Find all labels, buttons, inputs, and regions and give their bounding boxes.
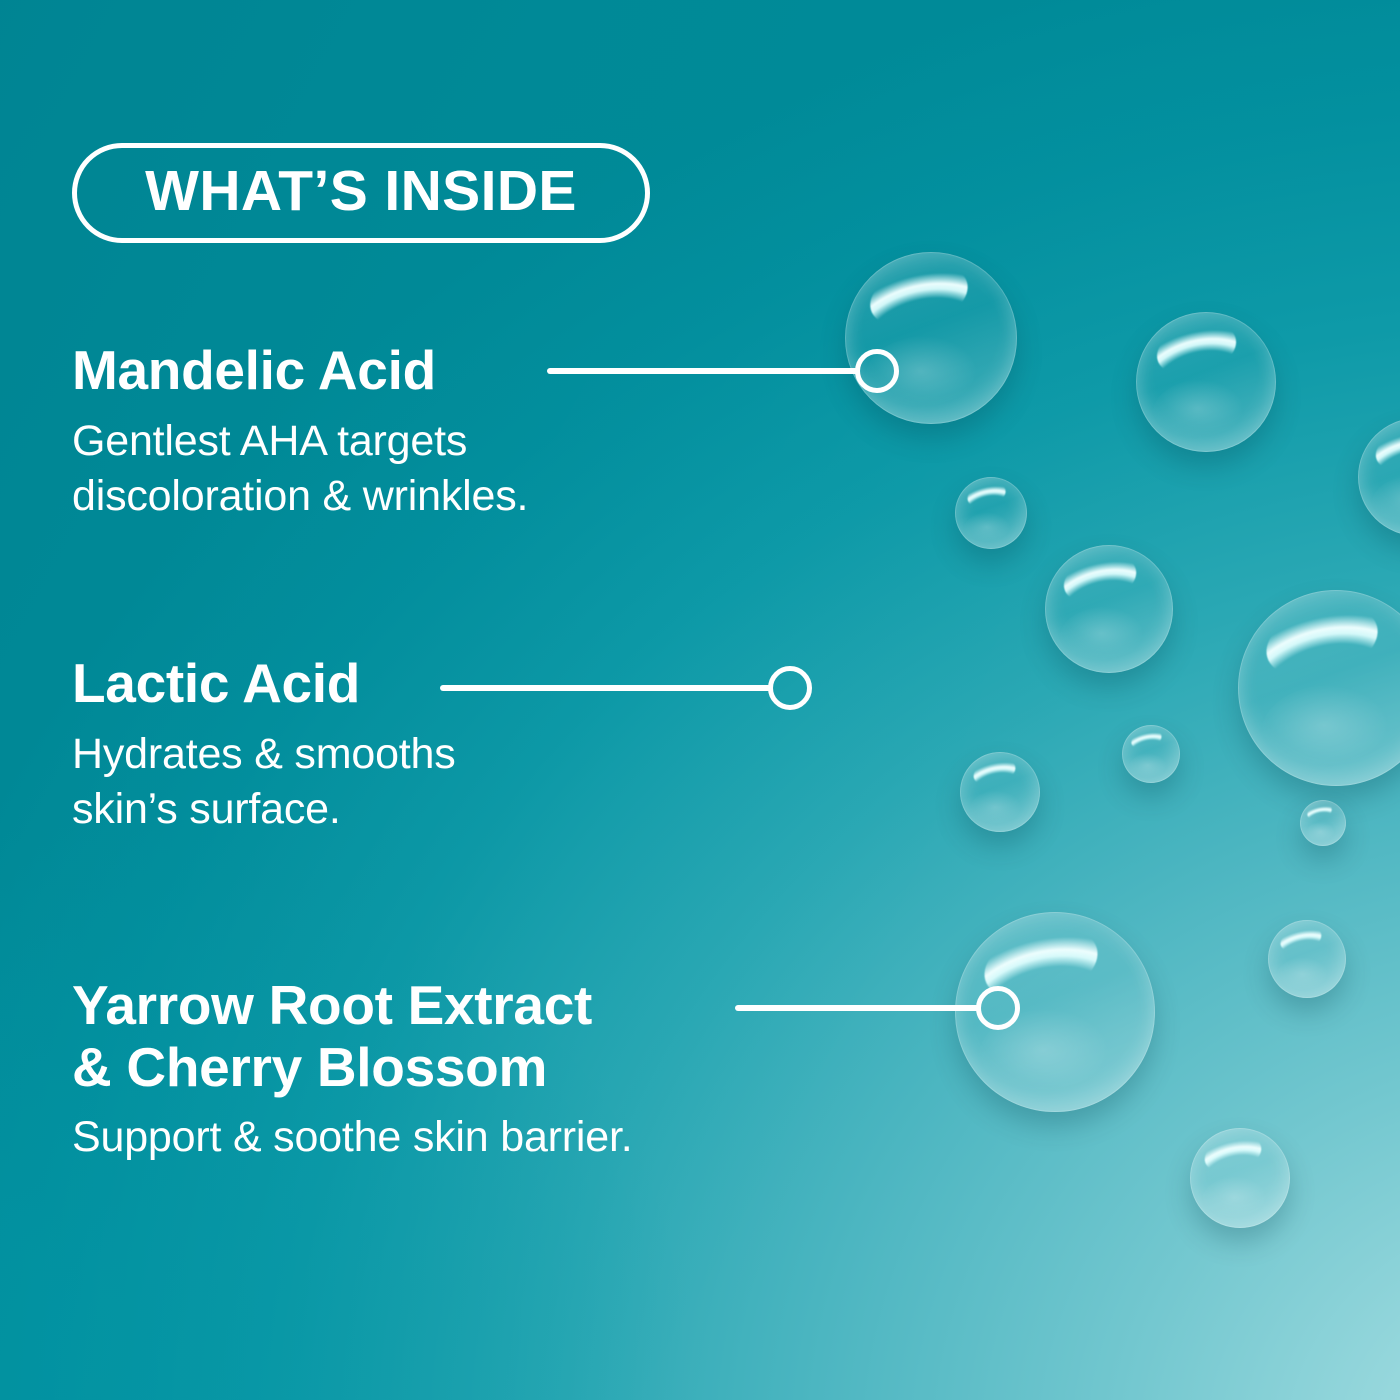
ingredient-item-1: Mandelic Acid Gentlest AHA targets disco… — [72, 340, 528, 525]
ingredient-description: Gentlest AHA targets discoloration & wri… — [72, 414, 528, 526]
content-layer: WHAT’S INSIDE Mandelic Acid Gentlest AHA… — [0, 0, 1400, 1400]
ingredient-description: Hydrates & smooths skin’s surface. — [72, 727, 456, 839]
connector-node-3 — [976, 986, 1020, 1030]
connector-node-1 — [855, 349, 899, 393]
section-badge: WHAT’S INSIDE — [72, 143, 650, 243]
connector-line-3 — [735, 1005, 980, 1011]
ingredient-title: Yarrow Root Extract & Cherry Blossom — [72, 975, 632, 1098]
section-badge-label: WHAT’S INSIDE — [145, 163, 577, 223]
infographic-canvas: WHAT’S INSIDE Mandelic Acid Gentlest AHA… — [0, 0, 1400, 1400]
ingredient-title: Mandelic Acid — [72, 340, 528, 402]
connector-line-1 — [547, 368, 859, 374]
ingredient-item-3: Yarrow Root Extract & Cherry Blossom Sup… — [72, 975, 632, 1166]
connector-node-2 — [768, 666, 812, 710]
connector-line-2 — [440, 685, 772, 691]
ingredient-description: Support & soothe skin barrier. — [72, 1110, 632, 1166]
ingredient-item-2: Lactic Acid Hydrates & smooths skin’s su… — [72, 653, 456, 838]
ingredient-title: Lactic Acid — [72, 653, 456, 715]
